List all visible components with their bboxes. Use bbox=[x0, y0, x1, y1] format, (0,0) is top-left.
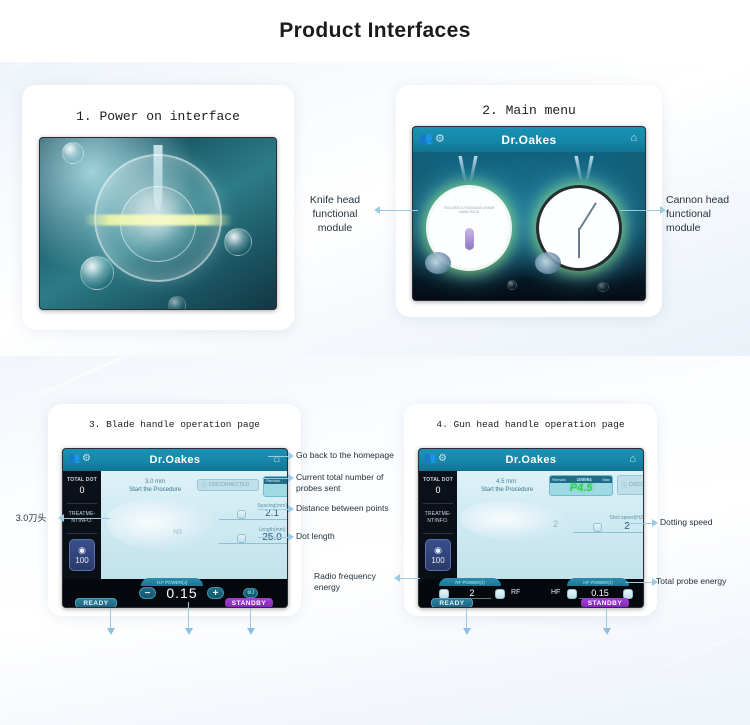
power-preset-button[interactable]: ⚙J bbox=[243, 588, 258, 598]
menu-bubble-2 bbox=[597, 282, 609, 292]
start-procedure-label: Start the Procedure bbox=[109, 487, 201, 493]
callout-line-blade-left bbox=[62, 518, 110, 519]
chip-glyph-icon: ◉ bbox=[78, 545, 86, 556]
callout-total-probes: Current total number of probes sent bbox=[296, 472, 414, 495]
gun-watermark: 2 bbox=[553, 519, 558, 529]
callout-gun-left: Radio frequency energy bbox=[314, 571, 392, 594]
callout-arrow-dotting bbox=[652, 519, 658, 527]
total-dot-label: TOTAL DOT bbox=[419, 477, 457, 483]
gear-icon[interactable]: ⚙ bbox=[438, 453, 447, 464]
callout-arrow-gun-left bbox=[394, 574, 400, 582]
sidebar-separator-2 bbox=[423, 533, 453, 534]
gun-footer: RF POWER(J) 2 RF HF HF POWER(J) 0.15 REA… bbox=[419, 579, 643, 608]
card-gun-page: 4. Gun head handle operation page Dr.Oak… bbox=[404, 404, 657, 616]
connection-status: ⓘ DISCONNECTED bbox=[197, 479, 259, 491]
blade-footer: H.F POWER(J) − 0.15 + ⚙J READY STANDBY bbox=[63, 579, 287, 608]
total-dot-value: 0 bbox=[419, 485, 457, 495]
user-icon[interactable]: 👥 bbox=[419, 132, 433, 145]
total-dot-label: TOTAL DOT bbox=[63, 477, 101, 483]
callout-arrow-length bbox=[288, 533, 294, 541]
hf-decrease-button[interactable] bbox=[567, 589, 577, 599]
connection-status-label: DISCONNECTED bbox=[629, 482, 644, 488]
depth-label: 3.0 mm bbox=[115, 479, 195, 485]
card-main-menu: 2. Main menu Dr.Oakes 👥 ⚙ ⌂ FOCUSED ULTR… bbox=[396, 85, 662, 317]
callout-dot-length: Dot length bbox=[296, 531, 396, 542]
knife-capsule-icon bbox=[465, 228, 474, 250]
ready-button[interactable]: READY bbox=[75, 598, 117, 608]
callout-arrow-knife bbox=[374, 206, 380, 214]
panel-title-main-menu: 2. Main menu bbox=[396, 103, 662, 118]
gun-header: Dr.Oakes 👥 ⚙ ⌂ bbox=[419, 449, 643, 471]
callout-total-probe-energy: Total probe energy bbox=[656, 576, 750, 587]
brand-label: Dr.Oakes bbox=[506, 454, 557, 466]
info-icon: ⓘ bbox=[201, 481, 207, 490]
card-blade-page: 3. Blade handle operation page Dr.Oakes … bbox=[48, 404, 301, 616]
bubble-bottom bbox=[168, 296, 186, 310]
cartridge-label: P4.5 bbox=[550, 482, 612, 494]
home-icon[interactable]: ⌂ bbox=[630, 132, 637, 144]
callout-distance-points: Distance between points bbox=[296, 503, 418, 514]
screen-main-menu: Dr.Oakes 👥 ⚙ ⌂ FOCUSED ULTRASOUND LINEAR… bbox=[412, 126, 646, 301]
callout-arrow-home bbox=[288, 452, 294, 460]
standby-button[interactable]: STANDBY bbox=[225, 598, 273, 608]
user-icon[interactable]: 👥 bbox=[68, 453, 80, 464]
callout-line-ready-down bbox=[110, 608, 111, 630]
bubble-small-top bbox=[62, 142, 84, 164]
callout-arrow-ready-down bbox=[107, 628, 115, 635]
callout-line-gun-standby-down bbox=[606, 608, 607, 630]
callout-line-length bbox=[258, 537, 290, 538]
blade-main: N3 3.0 mm Start the Procedure ⓘ DISCONNE… bbox=[101, 471, 287, 579]
gun-ui: Dr.Oakes 👥 ⚙ ⌂ TOTAL DOT 0 TREATME- NTIN… bbox=[419, 449, 643, 607]
gear-icon[interactable]: ⚙ bbox=[435, 132, 445, 145]
home-icon[interactable]: ⌂ bbox=[273, 453, 280, 465]
power-increase-button[interactable]: + bbox=[207, 587, 224, 599]
cannon-fan-icon bbox=[535, 252, 561, 274]
main-menu-ui: Dr.Oakes 👥 ⚙ ⌂ FOCUSED ULTRASOUND LINEAR… bbox=[413, 127, 645, 300]
bubble-bottom-left bbox=[80, 256, 114, 290]
chip-value: 100 bbox=[431, 556, 444, 565]
callout-arrow-cannon bbox=[660, 206, 666, 214]
callout-arrow-probes bbox=[288, 474, 294, 482]
callout-arrow-standby-down bbox=[247, 628, 255, 635]
panel-title-power-on: 1. Power on interface bbox=[22, 109, 294, 124]
standby-button[interactable]: STANDBY bbox=[581, 598, 629, 608]
gear-icon[interactable]: ⚙ bbox=[82, 453, 91, 464]
cannon-needle-icon bbox=[578, 202, 597, 230]
info-icon: ⓘ bbox=[621, 481, 627, 490]
bubble-right bbox=[224, 228, 252, 256]
chip-glyph-icon: ◉ bbox=[434, 545, 442, 556]
main-menu-header: Dr.Oakes 👥 ⚙ ⌂ bbox=[413, 127, 645, 152]
panel-title-blade: 3. Blade handle operation page bbox=[48, 419, 301, 430]
gun-sidebar: TOTAL DOT 0 TREATME- NTINFO. ◉ 100 bbox=[419, 471, 457, 579]
droplet-glow-bar bbox=[83, 215, 233, 226]
sidebar-separator-2 bbox=[67, 533, 97, 534]
home-icon[interactable]: ⌂ bbox=[629, 453, 636, 465]
card-power-on: 1. Power on interface bbox=[22, 85, 294, 330]
panel-title-gun: 4. Gun head handle operation page bbox=[404, 419, 657, 430]
callout-line-power-down bbox=[188, 602, 189, 630]
knife-fan-icon bbox=[425, 252, 451, 274]
main-menu-body: FOCUSED ULTRASOUND LINEAR HAND-PIECE bbox=[413, 152, 645, 301]
callout-dotting-speed: Dotting speed bbox=[660, 517, 750, 528]
sidebar-separator-1 bbox=[67, 503, 97, 504]
callout-blade-left: 3.0刀头 bbox=[4, 512, 58, 524]
callout-arrow-power-down bbox=[185, 628, 193, 635]
screen-gun: Dr.Oakes 👥 ⚙ ⌂ TOTAL DOT 0 TREATME- NTIN… bbox=[418, 448, 644, 608]
callout-line-home bbox=[268, 456, 290, 457]
cartridge-remain-box: Remain 19585 Max N3 bbox=[263, 476, 288, 497]
callout-arrow-gun-standby-down bbox=[603, 628, 611, 635]
callout-line-gun-ready-down bbox=[466, 608, 467, 630]
knife-module-caption: FOCUSED ULTRASOUND LINEAR HAND-PIECE bbox=[429, 206, 509, 214]
callout-line-knife bbox=[378, 210, 418, 211]
cannon-needle-icon-2 bbox=[578, 228, 580, 258]
callout-line-gun-left bbox=[398, 578, 420, 579]
rf-power-tab: RF POWER(J) bbox=[439, 578, 501, 586]
menu-bubble-1 bbox=[507, 280, 517, 290]
callout-go-home: Go back to the homepage bbox=[296, 450, 416, 461]
connection-status-label: DISCONNECTED bbox=[209, 482, 249, 488]
length-value: 25.0 bbox=[219, 532, 288, 544]
callout-line-cannon bbox=[620, 210, 662, 211]
cartridge-remain-box: Remain 100054 Max P4.5 bbox=[549, 475, 613, 496]
brand-label: Dr.Oakes bbox=[150, 454, 201, 466]
blade-ui: Dr.Oakes 👥 ⚙ ⌂ TOTAL DOT 0 TREATME- NTIN… bbox=[63, 449, 287, 607]
screen-blade: Dr.Oakes 👥 ⚙ ⌂ TOTAL DOT 0 TREATME- NTIN… bbox=[62, 448, 288, 608]
start-procedure-label: Start the Procedure bbox=[461, 487, 553, 493]
callout-line-dotting bbox=[626, 523, 654, 524]
ready-button[interactable]: READY bbox=[431, 598, 473, 608]
blade-body: TOTAL DOT 0 TREATME- NTINFO. ◉ 100 N3 3.… bbox=[63, 471, 287, 579]
handpiece-ghost-image bbox=[107, 499, 215, 551]
callout-line-probes bbox=[262, 478, 290, 479]
blade-header: Dr.Oakes 👥 ⚙ ⌂ bbox=[63, 449, 287, 471]
user-icon[interactable]: 👥 bbox=[424, 453, 436, 464]
gun-main: 2 4.5 mm Start the Procedure Remain 1000… bbox=[457, 471, 643, 579]
connection-status: ⓘ DISCONNECTED bbox=[617, 475, 644, 495]
rf-increase-button[interactable] bbox=[495, 589, 505, 599]
depth-chip[interactable]: ◉ 100 bbox=[425, 539, 452, 571]
cannon-fork-icon bbox=[573, 156, 595, 182]
brand-label: Dr.Oakes bbox=[501, 133, 556, 147]
sidebar-separator-1 bbox=[423, 503, 453, 504]
callout-knife-head: Knife head functional module bbox=[296, 193, 374, 236]
callout-arrow-gun-ready-down bbox=[463, 628, 471, 635]
depth-label: 4.5 mm bbox=[467, 479, 545, 485]
handpiece-ghost-image bbox=[461, 501, 565, 541]
treatment-info-label[interactable]: TREATME- NTINFO. bbox=[419, 511, 457, 524]
callout-line-spacing bbox=[258, 509, 290, 510]
knife-fork-icon bbox=[457, 156, 479, 182]
depth-chip[interactable]: ◉ 100 bbox=[69, 539, 96, 571]
cartridge-label: N3 bbox=[264, 484, 288, 496]
power-value: 0.15 bbox=[159, 585, 205, 601]
callout-cannon-head: Cannon head functional module bbox=[666, 193, 750, 236]
callout-arrow-blade-left bbox=[58, 514, 64, 522]
page-title: Product Interfaces bbox=[279, 19, 471, 43]
page-header: Product Interfaces bbox=[0, 0, 750, 62]
blade-sidebar: TOTAL DOT 0 TREATME- NTINFO. ◉ 100 bbox=[63, 471, 101, 579]
callout-arrow-spacing bbox=[288, 505, 294, 513]
hf-power-tab: HF POWER(J) bbox=[567, 578, 629, 586]
chip-value: 100 bbox=[75, 556, 88, 565]
screen-power-on bbox=[39, 137, 277, 310]
blade-watermark: N3 bbox=[173, 529, 182, 536]
callout-line-total-energy bbox=[626, 582, 654, 583]
power-on-image bbox=[40, 138, 276, 309]
callout-line-standby-down bbox=[250, 608, 251, 630]
gun-body: TOTAL DOT 0 TREATME- NTINFO. ◉ 100 2 4.5… bbox=[419, 471, 643, 579]
hf-tag-label: HF bbox=[551, 589, 560, 596]
rf-tag-label: RF bbox=[511, 589, 520, 596]
total-dot-value: 0 bbox=[63, 485, 101, 495]
power-decrease-button[interactable]: − bbox=[139, 587, 156, 599]
